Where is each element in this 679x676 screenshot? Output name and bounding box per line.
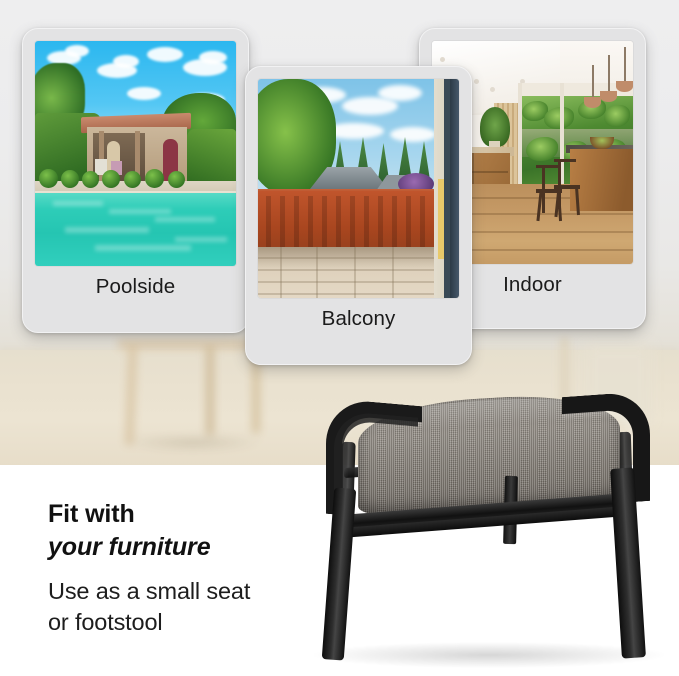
footstool-frame-right (562, 391, 650, 507)
card-label-balcony: Balcony (246, 307, 471, 331)
subtext-line-2: or footstool (48, 607, 348, 638)
balcony-photo (258, 79, 459, 298)
headline-line-1: Fit with (48, 498, 348, 531)
headline-line-2: your furniture (48, 531, 348, 564)
marketing-copy-block: Fit with your furniture Use as a small s… (48, 498, 348, 639)
footstool-product-image (304, 392, 676, 670)
use-case-card-poolside[interactable]: Poolside (22, 28, 249, 333)
poolside-photo (35, 41, 236, 266)
background-table (118, 340, 268, 450)
subtext-line-1: Use as a small seat (48, 576, 348, 607)
footstool-shadow (314, 642, 664, 668)
product-lifestyle-scene: Poolside (0, 0, 679, 676)
card-label-poolside: Poolside (23, 275, 248, 299)
use-case-card-balcony[interactable]: Balcony (245, 66, 472, 365)
